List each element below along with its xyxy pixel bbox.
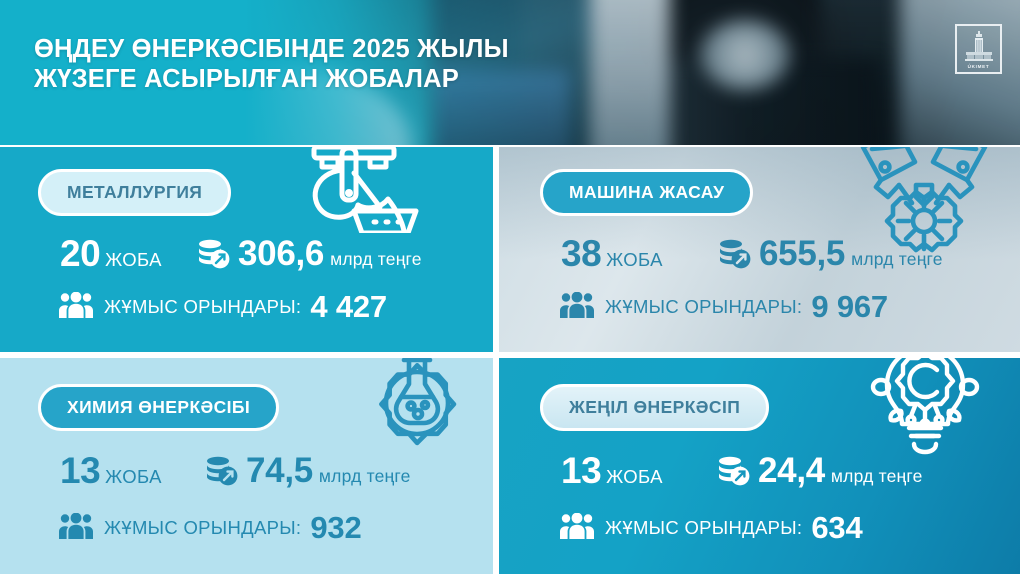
metallurgy-money-unit: млрд теңге <box>330 249 422 270</box>
header-banner: ӨҢДЕУ ӨНЕРКӘСІБІНДЕ 2025 ЖЫЛЫ ЖҮЗЕГЕ АСЫ… <box>0 0 1020 145</box>
machinery-money-unit: млрд теңге <box>851 249 943 270</box>
people-group-icon <box>58 513 94 545</box>
people-group-icon <box>559 292 595 324</box>
ukimet-logo: ÚKIMET <box>955 24 1002 74</box>
cards-grid: МЕТАЛЛУРГИЯ 20 ЖОБА 306,6 млрд теңге <box>0 147 1020 574</box>
light-industry-projects-unit: ЖОБА <box>606 466 663 488</box>
horizontal-divider <box>0 352 1020 358</box>
people-group-icon <box>559 513 595 545</box>
card-title-machinery: МАШИНА ЖАСАУ <box>540 169 753 216</box>
coin-stack-growth-icon <box>717 456 751 491</box>
coin-stack-growth-icon <box>718 239 752 274</box>
machinery-stats-row: 38 ЖОБА <box>561 235 663 272</box>
logo-text: ÚKIMET <box>968 64 990 69</box>
machinery-money-row: 655,5 млрд теңге <box>718 235 943 271</box>
card-title-light-industry: ЖЕҢІЛ ӨНЕРКӘСІП <box>540 384 769 431</box>
metallurgy-projects-value: 20 <box>60 235 100 272</box>
card-chemical: ХИМИЯ ӨНЕРКӘСІБІ 13 ЖОБА 74,5 млрд теңге <box>0 358 493 574</box>
chemical-jobs-row: ЖҰМЫС ОРЫНДАРЫ: 932 <box>58 510 361 546</box>
chemical-money-value: 74,5 <box>246 453 313 488</box>
people-group-icon <box>58 292 94 324</box>
light-industry-projects-value: 13 <box>561 452 601 489</box>
machinery-jobs-row: ЖҰМЫС ОРЫНДАРЫ: 9 967 <box>559 289 888 325</box>
vertical-divider <box>493 147 499 574</box>
light-industry-jobs-row: ЖҰМЫС ОРЫНДАРЫ: 634 <box>559 510 862 546</box>
light-industry-money-row: 24,4 млрд теңге <box>717 452 923 488</box>
metallurgy-projects-unit: ЖОБА <box>105 249 162 271</box>
light-industry-jobs-value: 634 <box>811 510 862 546</box>
chemical-projects-value: 13 <box>60 452 100 489</box>
ladle-pouring-icon <box>296 147 424 238</box>
chemical-jobs-value: 932 <box>310 510 361 546</box>
government-building-icon <box>962 31 996 63</box>
light-industry-jobs-label: ЖҰМЫС ОРЫНДАРЫ: <box>605 517 802 539</box>
machinery-money-value: 655,5 <box>759 236 845 271</box>
metallurgy-stats-row: 20 ЖОБА <box>60 235 162 272</box>
card-light-industry: ЖЕҢІЛ ӨНЕРКӘСІП 13 ЖОБА 24,4 млрд теңге <box>499 358 1020 574</box>
machinery-jobs-label: ЖҰМЫС ОРЫНДАРЫ: <box>605 296 802 318</box>
infographic-root: ӨҢДЕУ ӨНЕРКӘСІБІНДЕ 2025 ЖЫЛЫ ЖҮЗЕГЕ АСЫ… <box>0 0 1020 574</box>
lightbulb-gear-icon <box>859 358 991 465</box>
light-industry-money-unit: млрд теңге <box>831 466 923 487</box>
light-industry-stats-row: 13 ЖОБА <box>561 452 663 489</box>
chemical-projects-unit: ЖОБА <box>105 466 162 488</box>
light-industry-money-value: 24,4 <box>758 453 825 488</box>
flask-gear-icon <box>352 358 482 467</box>
metallurgy-jobs-row: ЖҰМЫС ОРЫНДАРЫ: 4 427 <box>58 289 387 325</box>
card-title-chemical: ХИМИЯ ӨНЕРКӘСІБІ <box>38 384 279 431</box>
metallurgy-money-row: 306,6 млрд теңге <box>197 235 422 271</box>
chemical-jobs-label: ЖҰМЫС ОРЫНДАРЫ: <box>104 517 301 539</box>
metallurgy-jobs-value: 4 427 <box>310 289 387 325</box>
coin-stack-growth-icon <box>205 456 239 491</box>
page-title: ӨҢДЕУ ӨНЕРКӘСІБІНДЕ 2025 ЖЫЛЫ ЖҮЗЕГЕ АСЫ… <box>34 34 509 94</box>
metallurgy-money-value: 306,6 <box>238 236 324 271</box>
coin-stack-growth-icon <box>197 239 231 274</box>
machinery-jobs-value: 9 967 <box>811 289 888 325</box>
card-metallurgy: МЕТАЛЛУРГИЯ 20 ЖОБА 306,6 млрд теңге <box>0 147 493 352</box>
chemical-money-unit: млрд теңге <box>319 466 411 487</box>
metallurgy-jobs-label: ЖҰМЫС ОРЫНДАРЫ: <box>104 296 301 318</box>
machinery-projects-value: 38 <box>561 235 601 272</box>
chemical-stats-row: 13 ЖОБА <box>60 452 162 489</box>
card-title-metallurgy: МЕТАЛЛУРГИЯ <box>38 169 231 216</box>
card-machinery: МАШИНА ЖАСАУ 38 ЖОБА 655,5 млрд теңге <box>499 147 1020 352</box>
machinery-projects-unit: ЖОБА <box>606 249 663 271</box>
chemical-money-row: 74,5 млрд теңге <box>205 452 411 488</box>
